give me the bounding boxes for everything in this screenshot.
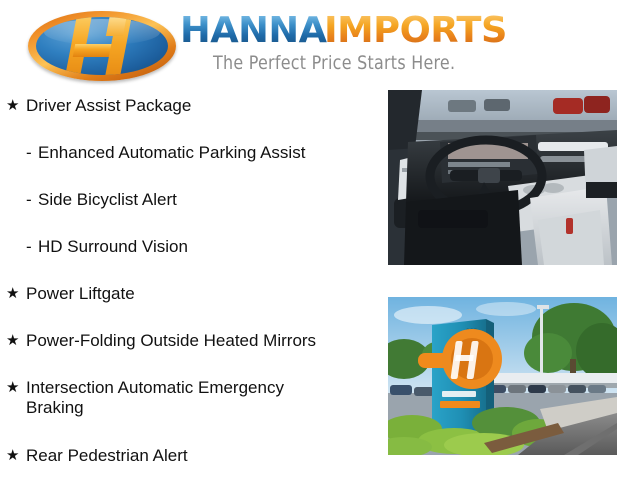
brand-wordmark: HANNAIMPORTS [180, 13, 503, 53]
feature-item: -HD Surround Vision [26, 237, 188, 257]
feature-item-label: Enhanced Automatic Parking Assist [38, 143, 305, 163]
logo-gloss [44, 19, 160, 45]
feature-item-label: HD Surround Vision [38, 237, 188, 257]
dealership-sign-photo: 285 [388, 297, 617, 455]
vehicle-interior-photo [388, 90, 617, 265]
feature-item-label: Intersection Automatic Emergency Braking [26, 378, 284, 418]
dash-bullet-icon: - [26, 143, 38, 163]
star-bullet-icon: ★ [6, 378, 26, 398]
feature-item-label: Rear Pedestrian Alert [26, 446, 188, 466]
dash-bullet-icon: - [26, 190, 38, 210]
feature-item: ★Power-Folding Outside Heated Mirrors [6, 331, 316, 351]
feature-item: -Side Bicyclist Alert [26, 190, 177, 210]
star-bullet-icon: ★ [6, 96, 26, 116]
star-bullet-icon: ★ [6, 446, 26, 466]
feature-item: ★Driver Assist Package [6, 96, 191, 116]
brand-tagline: The Perfect Price Starts Here. [213, 52, 455, 74]
feature-item: ★Power Liftgate [6, 284, 135, 304]
feature-item: ★Intersection Automatic Emergency Brakin… [6, 378, 284, 418]
logo-oval-field [36, 17, 168, 75]
brand-word-hanna: HANNA [180, 13, 326, 49]
star-bullet-icon: ★ [6, 331, 26, 351]
feature-item-label: Driver Assist Package [26, 96, 191, 116]
star-bullet-icon: ★ [6, 284, 26, 304]
dealership-sign-illustration: 285 [388, 297, 617, 455]
feature-item: -Enhanced Automatic Parking Assist [26, 143, 305, 163]
dash-bullet-icon: - [26, 237, 38, 257]
feature-item: ★Rear Pedestrian Alert [6, 446, 188, 466]
feature-item-label: Power Liftgate [26, 284, 135, 304]
hanna-oval-h-logo-icon [28, 11, 176, 81]
vehicle-interior-illustration [388, 90, 617, 265]
brand-word-imports: IMPORTS [324, 13, 507, 49]
page-header: HANNAIMPORTS The Perfect Price Starts He… [0, 0, 640, 88]
feature-item-label: Side Bicyclist Alert [38, 190, 177, 210]
feature-item-label: Power-Folding Outside Heated Mirrors [26, 331, 316, 351]
